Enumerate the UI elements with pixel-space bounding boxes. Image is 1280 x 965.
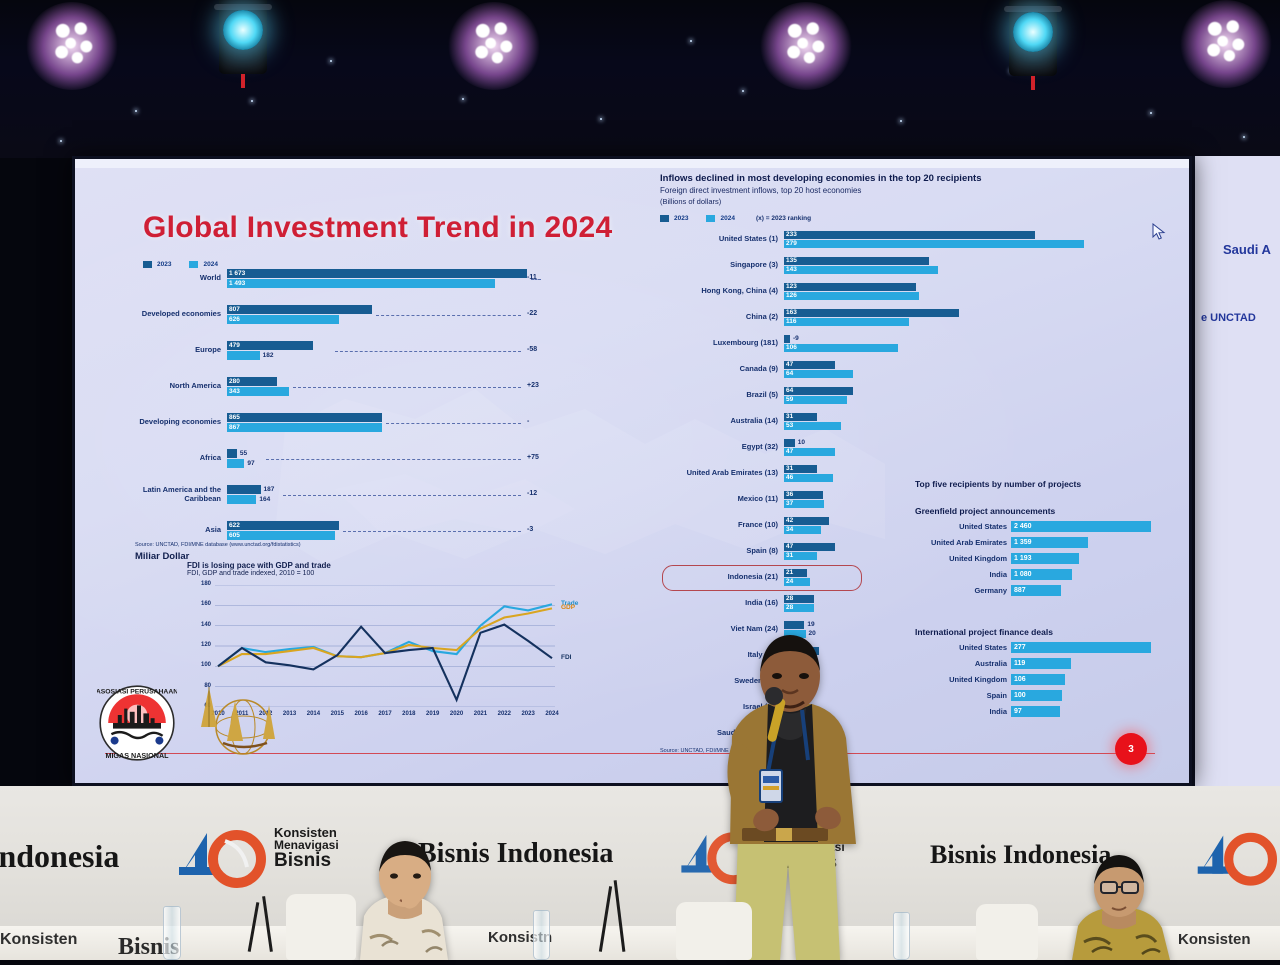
project-country-label: India bbox=[915, 706, 1011, 717]
country-label: Hong Kong, China (4) bbox=[660, 286, 778, 295]
bar-value-2023: -9 bbox=[793, 335, 799, 343]
legend-swatch-2023 bbox=[143, 261, 152, 268]
project-bar: 277 bbox=[1011, 642, 1151, 653]
project-bar-row: Australia119 bbox=[1011, 658, 1071, 669]
backdrop-tagline-row2: Konsisten bbox=[0, 932, 77, 948]
project-country-label: United Kingdom bbox=[915, 674, 1011, 685]
bar-value-2023: 807 bbox=[229, 305, 240, 314]
bar-2023: 10 bbox=[784, 439, 795, 447]
region-bars: 1 6731 493 bbox=[227, 269, 527, 288]
country-bars: 123126 bbox=[784, 283, 919, 300]
change-percent: -22 bbox=[527, 310, 537, 317]
bar-2023: 622 bbox=[227, 521, 339, 530]
right-chart-subtitle: Foreign direct investment inflows, top 2… bbox=[660, 186, 861, 195]
bar-value-2024: 47 bbox=[786, 448, 793, 456]
bar-2024: 59 bbox=[784, 396, 847, 404]
region-label: North America bbox=[135, 382, 221, 391]
bar-2024: 116 bbox=[784, 318, 909, 326]
country-bars: 2828 bbox=[784, 595, 814, 612]
country-bars: 3153 bbox=[784, 413, 841, 430]
bar-2023: 280 bbox=[227, 377, 277, 386]
region-bars: 807626 bbox=[227, 305, 372, 324]
bar-value-2023: 28 bbox=[786, 595, 793, 603]
par-light bbox=[1198, 12, 1254, 68]
country-label: United States (1) bbox=[660, 234, 778, 243]
bar-2023: 36 bbox=[784, 491, 823, 499]
y-axis-tick: 160 bbox=[189, 601, 211, 607]
tagline-line-3: Bisnis bbox=[274, 851, 339, 870]
bar-2024: 37 bbox=[784, 500, 824, 508]
bar-value-2023: 31 bbox=[786, 465, 793, 473]
x-axis-tick: 2014 bbox=[307, 711, 320, 717]
bar-value-2023: 31 bbox=[786, 413, 793, 421]
side-screen-text-2: e UNCTAD bbox=[1201, 312, 1256, 324]
project-country-label: United Kingdom bbox=[915, 553, 1011, 564]
bar-2024: 126 bbox=[784, 292, 919, 300]
project-country-label: Australia bbox=[915, 658, 1011, 669]
bar-value-2024: 97 bbox=[247, 459, 254, 468]
ceiling-starfield bbox=[0, 0, 1280, 158]
bar-value-2024: 182 bbox=[263, 351, 274, 360]
left-chart-source: Source: UNCTAD, FDI/MNE database (www.un… bbox=[135, 542, 301, 548]
bar-value-2023: 36 bbox=[786, 491, 793, 499]
chair-left bbox=[286, 894, 356, 960]
bar-2023: 42 bbox=[784, 517, 829, 525]
bar-value-2024: 59 bbox=[786, 396, 793, 404]
logo-top-text: ASOSIASI PERUSAHAAN bbox=[97, 688, 177, 695]
project-bar: 1 080 bbox=[1011, 569, 1072, 580]
region-bars: 5597 bbox=[227, 449, 244, 468]
main-projection-screen: Global Investment Trend in 2024 2023 202… bbox=[72, 156, 1192, 786]
x-axis-tick: 2020 bbox=[450, 711, 463, 717]
leader-line bbox=[343, 531, 521, 532]
bar-value-2024: 31 bbox=[786, 552, 793, 560]
change-percent: - bbox=[527, 418, 529, 425]
bar-value-2023: 10 bbox=[798, 439, 805, 447]
line-series-gdp bbox=[218, 608, 552, 666]
region-label: Latin America and the Caribbean bbox=[135, 486, 221, 503]
country-bars: 4731 bbox=[784, 543, 835, 560]
par-light bbox=[778, 14, 834, 70]
side-projection-screen: Saudi A e UNCTAD bbox=[1192, 156, 1280, 786]
bar-value-2024: 605 bbox=[229, 531, 240, 540]
par-light bbox=[466, 14, 522, 70]
page-title: Global Investment Trend in 2024 bbox=[143, 211, 612, 245]
bar-2023: 233 bbox=[784, 231, 1035, 239]
change-percent: -3 bbox=[527, 526, 533, 533]
bar-2024: 1 493 bbox=[227, 279, 495, 288]
project-bar-value: 1 080 bbox=[1014, 569, 1032, 580]
bar-2023: 479 bbox=[227, 341, 313, 350]
y-axis-tick: 180 bbox=[189, 581, 211, 587]
project-bar-value: 277 bbox=[1014, 642, 1026, 653]
leader-line bbox=[335, 351, 521, 352]
bar-value-2023: 135 bbox=[786, 257, 797, 265]
bar-2024: 182 bbox=[227, 351, 260, 360]
region-label: Developed economies bbox=[135, 310, 221, 319]
country-label: France (10) bbox=[660, 520, 778, 529]
x-axis-tick: 2021 bbox=[474, 711, 487, 717]
bar-2023: 19 bbox=[784, 621, 804, 629]
y-axis-tick: 120 bbox=[189, 642, 211, 648]
chair-right bbox=[976, 904, 1038, 960]
bar-value-2024: 46 bbox=[786, 474, 793, 482]
bar-2024: 47 bbox=[784, 448, 835, 456]
series-label-gdp: GDP bbox=[561, 604, 575, 611]
right-chart-legend: 2023 2024 bbox=[660, 215, 735, 222]
bar-value-2023: 163 bbox=[786, 309, 797, 317]
legend-label-2024: 2024 bbox=[203, 261, 217, 268]
bar-2023: 31 bbox=[784, 465, 817, 473]
bar-value-2023: 123 bbox=[786, 283, 797, 291]
region-label: Asia bbox=[135, 526, 221, 535]
project-bar-row: United States2 460 bbox=[1011, 521, 1151, 532]
bar-value-2024: 867 bbox=[229, 423, 240, 432]
legend-swatch-2024 bbox=[189, 261, 198, 268]
side-screen-text-1: Saudi A bbox=[1223, 242, 1271, 257]
line-chart-subtitle: FDI, GDP and trade indexed, 2010 = 100 bbox=[187, 570, 587, 577]
country-label: China (2) bbox=[660, 312, 778, 321]
project-country-label: United States bbox=[915, 642, 1011, 653]
bar-2023: 55 bbox=[227, 449, 237, 458]
left-chart-units-note: Miliar Dollar bbox=[135, 551, 189, 562]
country-label: United Arab Emirates (13) bbox=[660, 468, 778, 477]
x-axis-tick: 2018 bbox=[402, 711, 415, 717]
region-label: Europe bbox=[135, 346, 221, 355]
y-axis-tick: 100 bbox=[189, 662, 211, 668]
conference-stage-photo: Saudi A e UNCTAD Global Investment Trend… bbox=[0, 0, 1280, 960]
bar-value-2024: 279 bbox=[786, 240, 797, 248]
moving-head-light bbox=[219, 0, 267, 74]
region-label: World bbox=[135, 274, 221, 283]
logo-bottom-text: MIGAS NASIONAL bbox=[105, 751, 169, 760]
bar-2023: 123 bbox=[784, 283, 916, 291]
bar-value-2023: 280 bbox=[229, 377, 240, 386]
bar-value-2023: 187 bbox=[264, 485, 275, 494]
bar-2023: 135 bbox=[784, 257, 929, 265]
bar-2024: 343 bbox=[227, 387, 289, 396]
legend-swatch-2024 bbox=[706, 215, 715, 222]
bar-value-2023: 19 bbox=[807, 621, 814, 629]
bar-2024: 64 bbox=[784, 370, 853, 378]
project-country-label: Spain bbox=[915, 690, 1011, 701]
legend-label-2024: 2024 bbox=[720, 215, 734, 222]
aspermigas-logo: ASOSIASI PERUSAHAAN MIGAS NASIONAL bbox=[97, 683, 177, 763]
bar-value-2023: 64 bbox=[786, 387, 793, 395]
project-bar-row: India1 080 bbox=[1011, 569, 1072, 580]
series-label-fdi: FDI bbox=[561, 654, 571, 661]
bar-value-2024: 143 bbox=[786, 266, 797, 274]
ceiling-truss bbox=[0, 0, 1280, 158]
project-country-label: Germany bbox=[915, 585, 1011, 596]
global-fdi-by-region-chart: World1 6731 493-11Developed economies807… bbox=[135, 269, 575, 559]
bar-2024: 164 bbox=[227, 495, 256, 504]
y-axis-tick: 140 bbox=[189, 622, 211, 628]
bar-2023: 807 bbox=[227, 305, 372, 314]
country-bars: 3637 bbox=[784, 491, 824, 508]
country-bars: 233279 bbox=[784, 231, 1084, 248]
change-percent: -12 bbox=[527, 490, 537, 497]
leader-line bbox=[283, 495, 521, 496]
bar-2024: 31 bbox=[784, 552, 817, 560]
ipf-title: International project finance deals bbox=[915, 627, 1053, 637]
par-light bbox=[46, 14, 102, 70]
bar-2024: 46 bbox=[784, 474, 833, 482]
bar-value-2024: 28 bbox=[786, 604, 793, 612]
screen-top-band bbox=[75, 159, 1189, 168]
bar-value-2024: 106 bbox=[786, 344, 797, 352]
country-bars: 1047 bbox=[784, 439, 835, 456]
bar-value-2023: 47 bbox=[786, 543, 793, 551]
right-chart-units: (Billions of dollars) bbox=[660, 197, 721, 206]
region-label: Africa bbox=[135, 454, 221, 463]
oil-derrick-globe-graphic bbox=[183, 679, 293, 757]
country-label: Spain (8) bbox=[660, 546, 778, 555]
project-bar-value: 100 bbox=[1014, 690, 1026, 701]
bar-value-2024: 53 bbox=[786, 422, 793, 430]
bar-value-2023: 479 bbox=[229, 341, 240, 350]
project-bar-row: United States277 bbox=[1011, 642, 1151, 653]
seated-panelist-right bbox=[1046, 846, 1196, 960]
country-bars: 3146 bbox=[784, 465, 833, 482]
chair-center bbox=[676, 902, 752, 960]
project-bar: 1 193 bbox=[1011, 553, 1079, 564]
bar-value-2023: 55 bbox=[240, 449, 247, 458]
bar-2023: 28 bbox=[784, 595, 814, 603]
country-label: Luxembourg (181) bbox=[660, 338, 778, 347]
project-bar-row: Germany887 bbox=[1011, 585, 1061, 596]
logo-40-anniversary bbox=[1192, 830, 1280, 892]
x-axis-tick: 2019 bbox=[426, 711, 439, 717]
logo-tagline: Konsisten Menavigasi Bisnis bbox=[274, 826, 339, 871]
bar-2023: 187 bbox=[227, 485, 261, 494]
country-bars: 4764 bbox=[784, 361, 853, 378]
leader-line bbox=[266, 459, 521, 460]
project-bar-value: 2 460 bbox=[1014, 521, 1032, 532]
indonesia-highlight-box bbox=[662, 565, 862, 591]
bar-value-2024: 37 bbox=[786, 500, 793, 508]
bar-value-2024: 126 bbox=[786, 292, 797, 300]
bar-value-2024: 64 bbox=[786, 370, 793, 378]
x-axis-tick: 2016 bbox=[354, 711, 367, 717]
country-bars: 163116 bbox=[784, 309, 959, 326]
bar-2024: 53 bbox=[784, 422, 841, 430]
bar-2023: -9 bbox=[784, 335, 790, 343]
x-axis-tick: 2022 bbox=[498, 711, 511, 717]
project-bar-row: India97 bbox=[1011, 706, 1060, 717]
bar-2024: 867 bbox=[227, 423, 382, 432]
bar-2024: 626 bbox=[227, 315, 339, 324]
country-bars: 135143 bbox=[784, 257, 938, 274]
project-bar: 119 bbox=[1011, 658, 1071, 669]
project-bar-value: 106 bbox=[1014, 674, 1026, 685]
country-label: Singapore (3) bbox=[660, 260, 778, 269]
mouse-cursor bbox=[1152, 223, 1166, 241]
project-bar: 97 bbox=[1011, 706, 1060, 717]
bar-2023: 163 bbox=[784, 309, 959, 317]
project-bar-row: Spain100 bbox=[1011, 690, 1062, 701]
bar-2024: 28 bbox=[784, 604, 814, 612]
bar-value-2023: 622 bbox=[229, 521, 240, 530]
project-bar-row: United Kingdom1 193 bbox=[1011, 553, 1079, 564]
legend-label-2023: 2023 bbox=[157, 261, 171, 268]
project-bar-value: 1 193 bbox=[1014, 553, 1032, 564]
bar-2024: 106 bbox=[784, 344, 898, 352]
change-percent: -58 bbox=[527, 346, 537, 353]
bar-value-2023: 865 bbox=[229, 413, 240, 422]
project-country-label: India bbox=[915, 569, 1011, 580]
project-bar: 106 bbox=[1011, 674, 1065, 685]
bar-value-2024: 343 bbox=[229, 387, 240, 396]
leader-line bbox=[376, 315, 521, 316]
project-bar: 100 bbox=[1011, 690, 1062, 701]
leader-line bbox=[386, 423, 521, 424]
leader-line bbox=[293, 387, 521, 388]
project-bar: 1 359 bbox=[1011, 537, 1088, 548]
bar-2023: 1 673 bbox=[227, 269, 527, 278]
bar-value-2023: 1 673 bbox=[229, 269, 245, 278]
water-bottle bbox=[163, 906, 181, 960]
right-chart-title: Inflows declined in most developing econ… bbox=[660, 173, 981, 184]
water-bottle bbox=[893, 912, 910, 960]
bar-value-2023: 233 bbox=[786, 231, 797, 239]
projects-panel-title: Top five recipients by number of project… bbox=[915, 479, 1081, 489]
bar-2023: 47 bbox=[784, 543, 835, 551]
backdrop-text-indonesia: Indonesia bbox=[0, 838, 119, 875]
country-label: Brazil (5) bbox=[660, 390, 778, 399]
tagline-line-1: Konsisten bbox=[274, 826, 339, 839]
water-bottle bbox=[533, 910, 550, 960]
line-chart-title: FDI is losing pace with GDP and trade bbox=[187, 561, 587, 570]
region-bars: 280343 bbox=[227, 377, 289, 396]
project-country-label: United States bbox=[915, 521, 1011, 532]
region-bars: 865867 bbox=[227, 413, 382, 432]
bar-2024: 605 bbox=[227, 531, 335, 540]
bar-2024: 143 bbox=[784, 266, 938, 274]
project-bar-value: 119 bbox=[1014, 658, 1025, 669]
project-country-label: United Arab Emirates bbox=[915, 537, 1011, 548]
line-series-trade bbox=[218, 604, 552, 666]
presentation-slide: Global Investment Trend in 2024 2023 202… bbox=[75, 159, 1189, 783]
bar-2023: 865 bbox=[227, 413, 382, 422]
region-bars: 187164 bbox=[227, 485, 261, 504]
bar-value-2024: 626 bbox=[229, 315, 240, 324]
ranking-note: (x) = 2023 ranking bbox=[756, 215, 811, 222]
country-label: Australia (14) bbox=[660, 416, 778, 425]
region-label: Developing economies bbox=[135, 418, 221, 427]
bar-value-2024: 34 bbox=[786, 526, 793, 534]
x-axis-tick: 2023 bbox=[521, 711, 534, 717]
country-bars: -9106 bbox=[784, 335, 898, 352]
bar-2023: 64 bbox=[784, 387, 853, 395]
bar-value-2024: 1 493 bbox=[229, 279, 245, 288]
legend-swatch-2023 bbox=[660, 215, 669, 222]
left-chart-legend: 2023 2024 bbox=[143, 261, 218, 268]
country-bars: 6459 bbox=[784, 387, 853, 404]
country-bars: 4234 bbox=[784, 517, 829, 534]
bar-2024: 34 bbox=[784, 526, 821, 534]
bar-value-2024: 164 bbox=[259, 495, 270, 504]
logo-40-anniversary bbox=[173, 827, 269, 895]
region-bars: 622605 bbox=[227, 521, 339, 540]
change-percent: -11 bbox=[527, 274, 537, 281]
x-axis-tick: 2015 bbox=[331, 711, 344, 717]
moving-head-light bbox=[1009, 0, 1057, 76]
change-percent: +75 bbox=[527, 454, 539, 461]
project-bar-value: 887 bbox=[1014, 585, 1026, 596]
project-bar: 887 bbox=[1011, 585, 1061, 596]
country-label: Canada (9) bbox=[660, 364, 778, 373]
change-percent: +23 bbox=[527, 382, 539, 389]
bar-value-2023: 42 bbox=[786, 517, 793, 525]
bar-2024: 97 bbox=[227, 459, 244, 468]
project-bar: 2 460 bbox=[1011, 521, 1151, 532]
x-axis-tick: 2017 bbox=[378, 711, 391, 717]
country-label: India (16) bbox=[660, 598, 778, 607]
country-label: Mexico (11) bbox=[660, 494, 778, 503]
project-bar-value: 97 bbox=[1014, 706, 1022, 717]
bar-value-2024: 116 bbox=[786, 318, 797, 326]
bar-2023: 31 bbox=[784, 413, 817, 421]
bar-2024: 279 bbox=[784, 240, 1084, 248]
bar-2023: 47 bbox=[784, 361, 835, 369]
project-bar-row: United Arab Emirates1 359 bbox=[1011, 537, 1088, 548]
greenfield-title: Greenfield project announcements bbox=[915, 506, 1055, 516]
region-bars: 479182 bbox=[227, 341, 313, 360]
country-label: Egypt (32) bbox=[660, 442, 778, 451]
project-bar-row: United Kingdom106 bbox=[1011, 674, 1065, 685]
project-bar-value: 1 359 bbox=[1014, 537, 1032, 548]
page-number-badge: 3 bbox=[1115, 733, 1147, 765]
bar-value-2023: 47 bbox=[786, 361, 793, 369]
x-axis-tick: 2024 bbox=[545, 711, 558, 717]
legend-label-2023: 2023 bbox=[674, 215, 688, 222]
